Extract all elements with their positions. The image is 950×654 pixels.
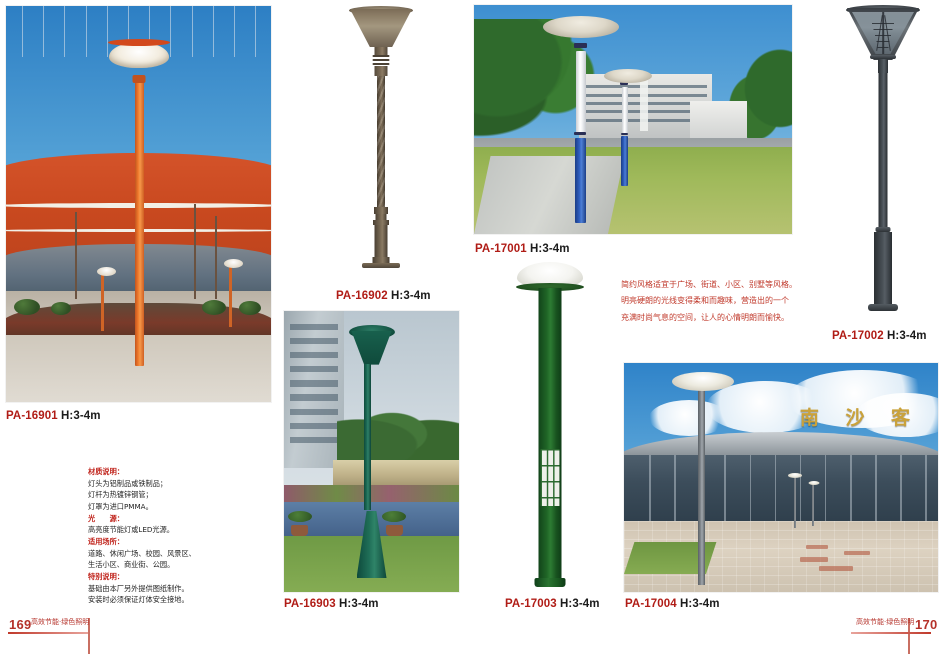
product-label-pa-17002: PA-17002 H:3-4m	[832, 331, 927, 343]
footer-slogan-left: 高效节能·绿色照明	[31, 619, 89, 626]
product-photo-pa-17004: 南 沙 客	[624, 363, 938, 592]
product-image-pa-17002	[828, 3, 938, 315]
product-code: PA-17004	[625, 598, 677, 610]
product-height: H:3-4m	[887, 330, 927, 342]
spec-place-line-1: 道路、休闲广场、校园、风景区、	[88, 548, 196, 560]
footer-rule-right	[851, 632, 931, 634]
spec-note-heading: 特别说明：	[88, 571, 196, 583]
spec-place-line-2: 生活小区、商业街、公园。	[88, 559, 196, 571]
product-code: PA-16902	[336, 290, 388, 302]
spec-material-line-3: 灯罩为进口PMMA。	[88, 501, 196, 513]
product-label-pa-17001: PA-17001 H:3-4m	[475, 244, 570, 256]
spec-material-line-1: 灯头为铝制品或铁制品；	[88, 478, 196, 490]
catalog-page-spread: PA-16901 H:3-4m PA-16902 H:3-4m	[0, 0, 950, 654]
footer-rule-left	[8, 632, 88, 634]
product-label-pa-16901: PA-16901 H:3-4m	[6, 411, 101, 423]
spec-source-heading: 光 源：	[88, 513, 196, 525]
product-label-pa-17004: PA-17004 H:3-4m	[625, 599, 720, 611]
intro-description-text: 简约风格适宜于广场、街道、小区、别墅等风格。 明亮硬朗的光线变得柔和而趣味，营造…	[621, 277, 797, 326]
product-code: PA-17003	[505, 598, 557, 610]
product-code: PA-17001	[475, 243, 527, 255]
product-image-pa-16902	[333, 4, 429, 280]
intro-line-2: 明亮硬朗的光线变得柔和而趣味，营造出的一个	[621, 293, 797, 309]
intro-line-1: 简约风格适宜于广场、街道、小区、别墅等风格。	[621, 277, 797, 293]
spec-note-line-2: 安装时必须保证灯体安全接地。	[88, 594, 196, 606]
product-height: H:3-4m	[680, 598, 720, 610]
product-image-pa-17003	[500, 262, 600, 592]
product-code: PA-17002	[832, 330, 884, 342]
spec-source-line-1: 高亮度节能灯或LED光源。	[88, 524, 196, 536]
product-height: H:3-4m	[530, 243, 570, 255]
product-height: H:3-4m	[61, 410, 101, 422]
product-code: PA-16901	[6, 410, 58, 422]
spec-note-line-1: 基础由本厂另外提供图纸制作。	[88, 583, 196, 595]
product-label-pa-16903: PA-16903 H:3-4m	[284, 599, 379, 611]
product-photo-pa-16901	[6, 6, 271, 402]
product-photo-pa-17001	[474, 5, 792, 234]
specification-text-block: 材质说明： 灯头为铝制品或铁制品； 灯杆为热镀锌钢管； 灯罩为进口PMMA。 光…	[88, 466, 196, 606]
product-height: H:3-4m	[339, 598, 379, 610]
product-photo-pa-16903	[284, 311, 459, 592]
spec-material-heading: 材质说明：	[88, 466, 196, 478]
spec-material-line-2: 灯杆为热镀锌钢管；	[88, 489, 196, 501]
product-label-pa-17003: PA-17003 H:3-4m	[505, 599, 600, 611]
product-label-pa-16902: PA-16902 H:3-4m	[336, 291, 431, 303]
folio-left: 169	[9, 618, 32, 631]
spec-place-heading: 适用场所：	[88, 536, 196, 548]
intro-line-3: 充满时尚气息的空间，让人的心情明朗而愉快。	[621, 310, 797, 326]
footer-slogan-right: 高效节能·绿色照明	[856, 619, 914, 626]
product-code: PA-16903	[284, 598, 336, 610]
product-height: H:3-4m	[391, 290, 431, 302]
product-height: H:3-4m	[560, 598, 600, 610]
terminal-building-sign: 南 沙 客	[800, 409, 920, 428]
folio-right: 170	[915, 618, 938, 631]
